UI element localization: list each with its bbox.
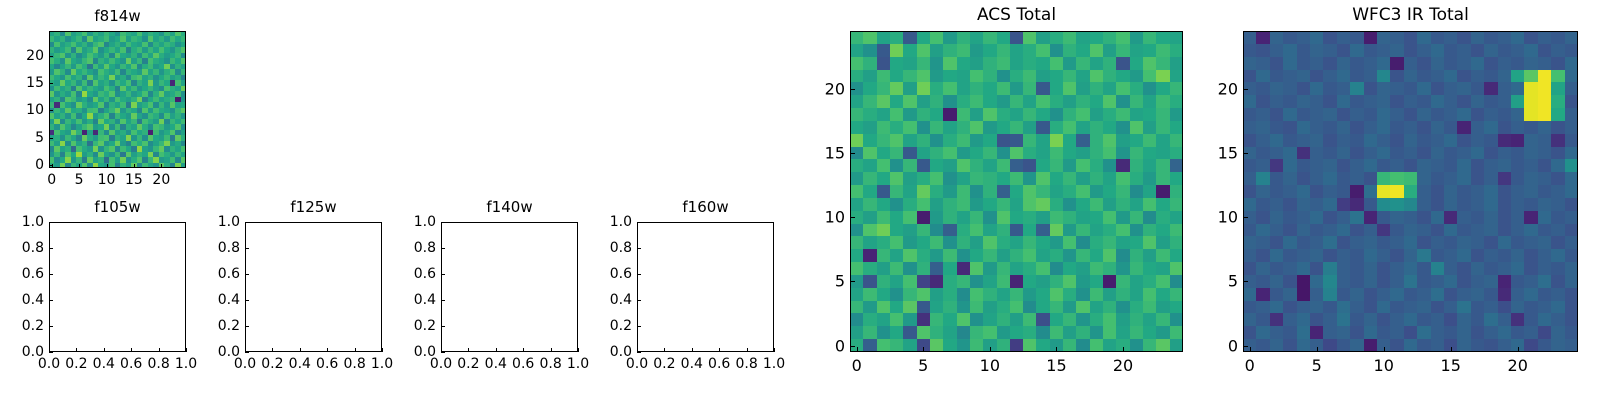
heatmap-cell [1130, 262, 1143, 275]
heatmap-cell [1076, 31, 1089, 44]
heatmap-cell [1417, 95, 1430, 108]
heatmap-cell [1036, 108, 1049, 121]
heatmap-cell [1565, 339, 1578, 352]
heatmap-cell [1457, 288, 1470, 301]
heatmap-cell [997, 275, 1010, 288]
y-tick-label: 0.2 [610, 318, 632, 334]
heatmap-cell [1076, 185, 1089, 198]
heatmap-cell [1377, 95, 1390, 108]
heatmap-cell [1116, 44, 1129, 57]
heatmap-cell [1498, 249, 1511, 262]
heatmap-cell [1350, 326, 1363, 339]
heatmap-cell [1498, 44, 1511, 57]
heatmap-cell [1538, 147, 1551, 160]
y-tick-label: 15 [1218, 143, 1238, 162]
heatmap-cell [1283, 224, 1296, 237]
y-tick-mark [49, 352, 53, 353]
heatmap-cell [930, 121, 943, 134]
heatmap-cell [943, 57, 956, 70]
heatmap-cell [1457, 249, 1470, 262]
heatmap-cell [1511, 275, 1524, 288]
heatmap-cell [1116, 326, 1129, 339]
heatmap-cell [890, 70, 903, 83]
heatmap-cell [1323, 288, 1336, 301]
x-tick-label: 0 [47, 172, 56, 188]
heatmap-cell [1538, 236, 1551, 249]
heatmap-cell [970, 185, 983, 198]
heatmap-cell [1023, 262, 1036, 275]
heatmap-cell [997, 70, 1010, 83]
heatmap-cell [877, 275, 890, 288]
heatmap-cell [1498, 275, 1511, 288]
heatmap-cell [1404, 147, 1417, 160]
heatmap-cell [1143, 326, 1156, 339]
heatmap-cell [997, 224, 1010, 237]
heatmap-cell [903, 198, 916, 211]
heatmap-cell [1390, 57, 1403, 70]
heatmap-cell [1297, 172, 1310, 185]
heatmap-cell [997, 31, 1010, 44]
heatmap-cell [863, 301, 876, 314]
heatmap-cell [1377, 172, 1390, 185]
heatmap-cell [1390, 326, 1403, 339]
y-tick-label: 1.0 [22, 214, 44, 230]
x-tick-mark [578, 348, 579, 352]
heatmap-cell [1390, 95, 1403, 108]
heatmap-cell [970, 44, 983, 57]
heatmap-cell [1364, 159, 1377, 172]
y-tick-mark [850, 346, 855, 347]
heatmap-cell [1565, 249, 1578, 262]
x-tick-label: 0.2 [65, 356, 87, 372]
heatmap-cell [1063, 275, 1076, 288]
heatmap-cell [1023, 44, 1036, 57]
heatmap-cell [917, 95, 930, 108]
heatmap-cell [1050, 121, 1063, 134]
heatmap-cell [1090, 147, 1103, 160]
heatmap-cell [1417, 249, 1430, 262]
subplot-f160w: f160w0.00.20.40.60.81.00.00.20.40.60.81.… [637, 222, 774, 352]
heatmap-cell [1484, 185, 1497, 198]
heatmap-cell [1270, 159, 1283, 172]
heatmap-cell [1310, 301, 1323, 314]
heatmap-cell [903, 121, 916, 134]
x-tick-label: 0.8 [735, 356, 757, 372]
heatmap-cell [1156, 236, 1169, 249]
heatmap-cell [1471, 147, 1484, 160]
heatmap-cell [1404, 339, 1417, 352]
heatmap-cell [917, 288, 930, 301]
heatmap-cell [1484, 57, 1497, 70]
heatmap-cell [930, 198, 943, 211]
heatmap-cell [1364, 236, 1377, 249]
heatmap-cell [1130, 236, 1143, 249]
heatmap-cell [1076, 95, 1089, 108]
heatmap-cell [1377, 198, 1390, 211]
heatmap-cell [1283, 339, 1296, 352]
heatmap-cell [1498, 211, 1511, 224]
heatmap-cell [1551, 236, 1564, 249]
heatmap-cell [1076, 57, 1089, 70]
heatmap-cell [903, 224, 916, 237]
heatmap-cell [1551, 288, 1564, 301]
heatmap-cell [1116, 275, 1129, 288]
heatmap-cell [877, 121, 890, 134]
heatmap-cell [1484, 108, 1497, 121]
heatmap-cell [1116, 95, 1129, 108]
heatmap-cell [1565, 57, 1578, 70]
heatmap-cell [1390, 301, 1403, 314]
heatmap-cell [890, 31, 903, 44]
heatmap-cell [1350, 249, 1363, 262]
heatmap-cell [1090, 313, 1103, 326]
heatmap-cell [863, 275, 876, 288]
heatmap-cell [983, 147, 996, 160]
heatmap-cell [850, 108, 863, 121]
heatmap-cell [1116, 249, 1129, 262]
heatmap-cell [1050, 44, 1063, 57]
y-tick-label: 0.2 [218, 318, 240, 334]
heatmap-cell [1063, 262, 1076, 275]
heatmap-cell [1431, 57, 1444, 70]
heatmap-cell [1444, 44, 1457, 57]
heatmap-cell [850, 172, 863, 185]
heatmap-cell [1143, 159, 1156, 172]
heatmap-cell [943, 159, 956, 172]
heatmap-cell [957, 121, 970, 134]
heatmap-cell [1377, 70, 1390, 83]
heatmap-cell [1283, 147, 1296, 160]
heatmap-cell [1551, 82, 1564, 95]
heatmap-cell [1551, 275, 1564, 288]
heatmap-cell [1063, 57, 1076, 70]
heatmap-cell [1350, 224, 1363, 237]
heatmap-cell [1310, 224, 1323, 237]
heatmap-cell [1565, 262, 1578, 275]
heatmap-cell [1270, 313, 1283, 326]
heatmap-cell [863, 262, 876, 275]
heatmap-cell [1390, 288, 1403, 301]
heatmap-cell [1130, 198, 1143, 211]
heatmap-cell [1090, 288, 1103, 301]
heatmap-cell [1256, 57, 1269, 70]
heatmap-cell [1524, 147, 1537, 160]
heatmap-cell [877, 134, 890, 147]
heatmap-cell [1156, 134, 1169, 147]
heatmap-cell [1457, 134, 1470, 147]
heatmap-cell [890, 211, 903, 224]
heatmap-cell [1063, 44, 1076, 57]
heatmap-cell [863, 95, 876, 108]
heatmap-cell [983, 95, 996, 108]
heatmap-cell [1364, 275, 1377, 288]
heatmap-cell [1036, 121, 1049, 134]
heatmap-cell [1511, 57, 1524, 70]
heatmap-cell [1156, 301, 1169, 314]
heatmap-cell [1524, 236, 1537, 249]
heatmap-cell [1471, 31, 1484, 44]
heatmap-cell [863, 121, 876, 134]
heatmap-cell [1170, 301, 1183, 314]
heatmap-cell [1471, 159, 1484, 172]
y-tick-label: 0.2 [414, 318, 436, 334]
heatmap-cell [1524, 134, 1537, 147]
heatmap-cell [1310, 313, 1323, 326]
heatmap-cell [930, 236, 943, 249]
heatmap-cell [850, 236, 863, 249]
heatmap-cell [1130, 249, 1143, 262]
y-tick-label: 0.0 [414, 344, 436, 360]
heatmap-cell [1023, 313, 1036, 326]
heatmap-cell [1270, 301, 1283, 314]
heatmap-cell [1364, 82, 1377, 95]
heatmap-cell [1551, 172, 1564, 185]
heatmap-cell [1103, 288, 1116, 301]
heatmap-cell [1023, 224, 1036, 237]
heatmap-cell [1143, 95, 1156, 108]
heatmap-cell [850, 44, 863, 57]
heatmap-cell [1390, 185, 1403, 198]
heatmap-cell [1390, 172, 1403, 185]
heatmap-cell [1524, 275, 1537, 288]
heatmap-cell [1116, 224, 1129, 237]
heatmap-cell [1471, 44, 1484, 57]
x-tick-label: 5 [75, 172, 84, 188]
heatmap-cell [1010, 159, 1023, 172]
heatmap-cell [1063, 326, 1076, 339]
heatmap-cell [1156, 147, 1169, 160]
heatmap-cell [1050, 236, 1063, 249]
heatmap-cell [1390, 313, 1403, 326]
heatmap-cell [1350, 57, 1363, 70]
heatmap-cell [1364, 121, 1377, 134]
heatmap-cell [1551, 224, 1564, 237]
x-tick-label: 20 [1113, 356, 1133, 375]
x-tick-mark [107, 164, 108, 168]
y-tick-label: 0 [35, 157, 44, 173]
heatmap-cell [877, 198, 890, 211]
heatmap-cell [917, 70, 930, 83]
heatmap-cell [1050, 198, 1063, 211]
heatmap-cell [1270, 44, 1283, 57]
heatmap-cell [1498, 108, 1511, 121]
heatmap-cell [1444, 249, 1457, 262]
heatmap-cell [1350, 82, 1363, 95]
heatmap-cell [1538, 249, 1551, 262]
heatmap-cell [1283, 82, 1296, 95]
x-tick-label: 15 [1441, 356, 1461, 375]
heatmap-cell [1364, 211, 1377, 224]
heatmap-cell [1156, 313, 1169, 326]
heatmap-cell [997, 339, 1010, 352]
heatmap-cell [1404, 185, 1417, 198]
heatmap-cell [1283, 313, 1296, 326]
heatmap-cell [1116, 134, 1129, 147]
heatmap-cell [1524, 31, 1537, 44]
heatmap-cell [1511, 159, 1524, 172]
heatmap-cell [1498, 70, 1511, 83]
heatmap-cell [1511, 95, 1524, 108]
heatmap-cell [1243, 326, 1256, 339]
heatmap-cell [863, 236, 876, 249]
heatmap-cell [970, 95, 983, 108]
heatmap-cell [1156, 172, 1169, 185]
heatmap-cell [1090, 108, 1103, 121]
heatmap-cell [1283, 198, 1296, 211]
heatmap-cell [1471, 95, 1484, 108]
heatmap-cell [1417, 172, 1430, 185]
heatmap-cell [1256, 172, 1269, 185]
heatmap-cell [1130, 301, 1143, 314]
heatmap-cell [1156, 185, 1169, 198]
y-tick-mark [49, 274, 53, 275]
heatmap-cell [1270, 95, 1283, 108]
y-tick-label: 0.6 [218, 266, 240, 282]
heatmap-cell [1337, 262, 1350, 275]
heatmap-cell [1364, 339, 1377, 352]
heatmap-cell [1484, 301, 1497, 314]
heatmap-cell [1310, 82, 1323, 95]
heatmap-cell [983, 134, 996, 147]
heatmap-cell [1170, 275, 1183, 288]
heatmap-cell [890, 198, 903, 211]
heatmap-cell [1524, 262, 1537, 275]
heatmap-cell [1090, 211, 1103, 224]
heatmap-cell [983, 262, 996, 275]
heatmap-cell [983, 288, 996, 301]
heatmap-cell [1565, 108, 1578, 121]
heatmap-cell [1431, 108, 1444, 121]
heatmap-cell [1404, 198, 1417, 211]
heatmap-cell [1511, 313, 1524, 326]
heatmap-cell [1350, 134, 1363, 147]
heatmap-cell [970, 211, 983, 224]
heatmap-cell [1270, 236, 1283, 249]
heatmap-cell [1457, 326, 1470, 339]
heatmap-cell [1404, 70, 1417, 83]
heatmap-cell [1337, 44, 1350, 57]
heatmap-cell [1364, 70, 1377, 83]
x-tick-mark [1250, 347, 1251, 352]
heatmap-cell [1431, 95, 1444, 108]
heatmap-cell [1170, 339, 1183, 352]
heatmap-cell [1310, 147, 1323, 160]
heatmap-cell [1511, 288, 1524, 301]
heatmap-cell [1484, 95, 1497, 108]
heatmap-cell [1283, 275, 1296, 288]
subplot-title: f105w [94, 198, 140, 216]
heatmap-cell [1390, 121, 1403, 134]
heatmap-cell [1310, 95, 1323, 108]
heatmap-cell [983, 108, 996, 121]
heatmap-cell [983, 57, 996, 70]
heatmap-cell [1143, 211, 1156, 224]
heatmap-cell [1090, 159, 1103, 172]
heatmap-cell [1103, 236, 1116, 249]
heatmap-cell [1431, 211, 1444, 224]
heatmap-cell [970, 159, 983, 172]
heatmap-cell [1256, 275, 1269, 288]
heatmap-cell [877, 249, 890, 262]
x-tick-mark [523, 348, 524, 352]
heatmap-cell [1170, 44, 1183, 57]
heatmap-cell [1565, 198, 1578, 211]
heatmap-cell [1538, 339, 1551, 352]
heatmap-cell [1310, 108, 1323, 121]
heatmap-cell [957, 339, 970, 352]
heatmap-cell [903, 134, 916, 147]
heatmap-cell [1010, 95, 1023, 108]
heatmap-cell [1036, 262, 1049, 275]
heatmap-cell [1270, 339, 1283, 352]
heatmap-cell [1103, 57, 1116, 70]
y-tick-label: 0.6 [610, 266, 632, 282]
y-tick-label: 0.0 [610, 344, 632, 360]
heatmap-cell [1243, 236, 1256, 249]
heatmap-cell [1050, 31, 1063, 44]
heatmap-cell [1337, 82, 1350, 95]
x-tick-label: 0.4 [289, 356, 311, 372]
heatmap-cell [1243, 313, 1256, 326]
heatmap-cell [970, 224, 983, 237]
heatmap-cell [1310, 326, 1323, 339]
heatmap-cell [1444, 275, 1457, 288]
heatmap-cell [1076, 198, 1089, 211]
heatmap-cell [1076, 288, 1089, 301]
heatmap-cell [970, 301, 983, 314]
heatmap-cell [1116, 82, 1129, 95]
heatmap-cell [1337, 288, 1350, 301]
heatmap-cell [997, 172, 1010, 185]
heatmap-cell [1457, 172, 1470, 185]
heatmap-cell [1090, 275, 1103, 288]
heatmap-cell [1377, 313, 1390, 326]
heatmap-cell [1551, 134, 1564, 147]
heatmap-cell [1444, 159, 1457, 172]
heatmap-cell [1524, 288, 1537, 301]
heatmap-cell [1270, 288, 1283, 301]
x-tick-label: 0 [1245, 356, 1255, 375]
y-tick-mark [441, 222, 445, 223]
heatmap-cell [1170, 121, 1183, 134]
heatmap-cell [1090, 172, 1103, 185]
heatmap-cell [877, 211, 890, 224]
heatmap-cell [890, 326, 903, 339]
heatmap-cell [1050, 326, 1063, 339]
y-tick-label: 1.0 [414, 214, 436, 230]
x-tick-label: 5 [1312, 356, 1322, 375]
heatmap-cell [957, 288, 970, 301]
y-tick-mark [1243, 281, 1248, 282]
heatmap-cell [1498, 288, 1511, 301]
heatmap-cell [1023, 185, 1036, 198]
heatmap-cell [1323, 301, 1336, 314]
heatmap-cell [1010, 172, 1023, 185]
heatmap-cell [1076, 211, 1089, 224]
heatmap-cell [903, 159, 916, 172]
heatmap-cell [1103, 211, 1116, 224]
heatmap-cell [1444, 262, 1457, 275]
heatmap-cell [1350, 121, 1363, 134]
heatmap-cell [1417, 288, 1430, 301]
heatmap-cell [1471, 236, 1484, 249]
heatmap-cell [863, 185, 876, 198]
heatmap-cell [1130, 275, 1143, 288]
heatmap-cell [1063, 121, 1076, 134]
heatmap-cell [1565, 275, 1578, 288]
heatmap-cell [1444, 147, 1457, 160]
heatmap-cell [903, 108, 916, 121]
